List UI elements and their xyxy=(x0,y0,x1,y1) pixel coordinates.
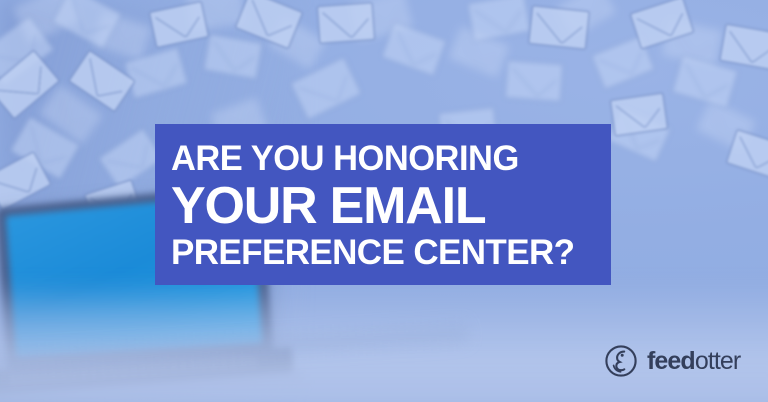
headline-line-1: ARE YOU HONORING xyxy=(171,141,519,176)
envelope-icon xyxy=(0,50,60,120)
envelope-icon xyxy=(629,0,694,50)
headline-line-3: PREFERENCE CENTER? xyxy=(171,235,574,270)
feedotter-otter-circle-icon xyxy=(604,344,638,378)
envelope-icon xyxy=(726,129,768,179)
envelope-icon xyxy=(719,23,768,70)
logo-word-feed: feed xyxy=(647,347,695,375)
logo-word-otter: otter xyxy=(695,347,741,375)
envelope-icon xyxy=(149,1,210,48)
envelope-icon xyxy=(235,0,304,49)
headline-banner: ARE YOU HONORING YOUR EMAIL PREFERENCE C… xyxy=(155,124,611,285)
envelope-icon xyxy=(317,2,376,44)
envelope-icon xyxy=(68,50,136,113)
envelope-icon xyxy=(610,92,669,136)
brand-logo[interactable]: feedotter xyxy=(604,344,740,378)
logo-wordmark: feedotter xyxy=(647,349,740,374)
envelope-icon xyxy=(528,5,590,50)
headline-line-2: YOUR EMAIL xyxy=(171,180,485,232)
hero-banner: ARE YOU HONORING YOUR EMAIL PREFERENCE C… xyxy=(0,0,768,402)
